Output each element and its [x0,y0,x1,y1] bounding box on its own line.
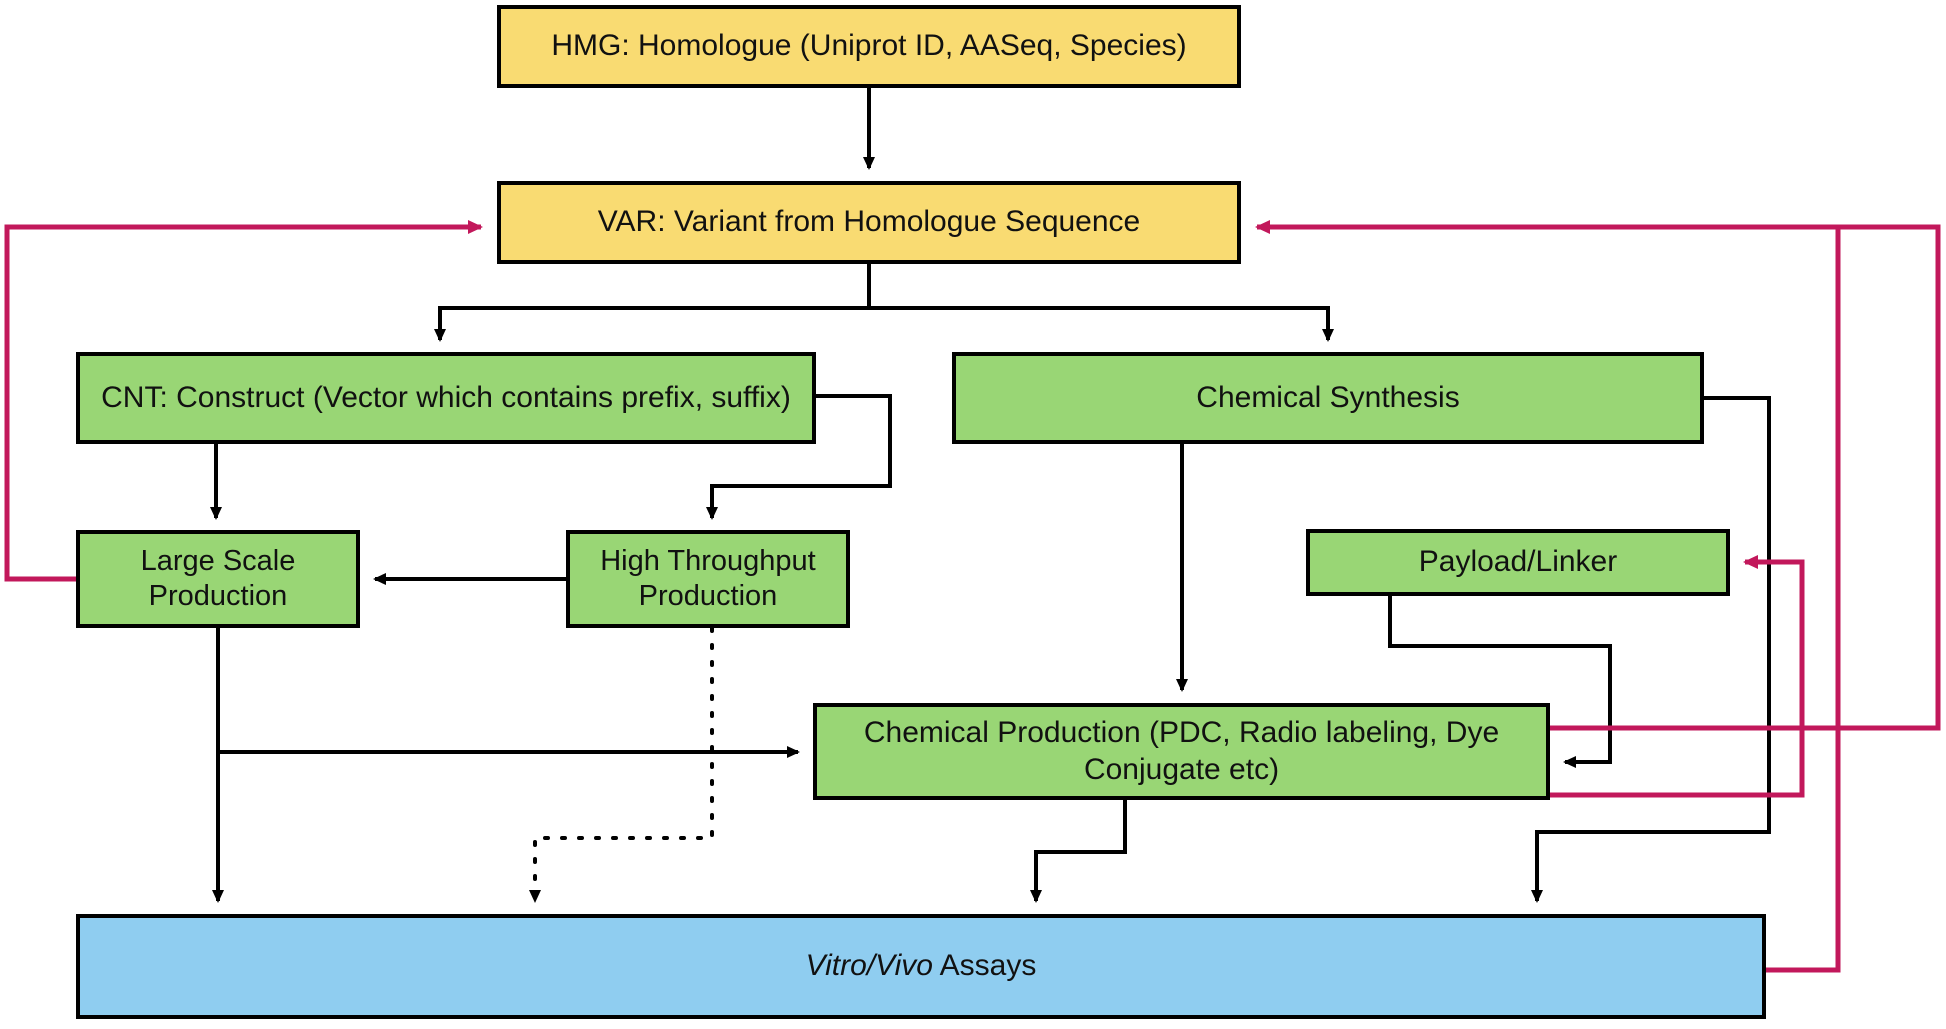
edge-var-split-left [440,264,869,340]
assays-label-italic: Vitro/Vivo [806,949,933,982]
node-chemical-production-label: Chemical Production (PDC, Radio labeling… [817,715,1546,788]
edge-chem-prod-to-payload-feedback [1550,562,1802,795]
node-var[interactable]: VAR: Variant from Homologue Sequence [497,181,1241,264]
edge-layer [0,0,1946,1029]
node-hmg[interactable]: HMG: Homologue (Uniprot ID, AASeq, Speci… [497,5,1241,88]
node-large-scale-production-label: Large Scale Production [80,544,356,615]
edge-var-split-right [869,308,1328,340]
node-high-throughput-production-label: High Throughput Production [570,544,846,615]
node-vitro-vivo-assays-label: Vitro/Vivo Assays [796,948,1047,985]
edge-chem-prod-to-var-feedback [1257,227,1938,728]
node-vitro-vivo-assays[interactable]: Vitro/Vivo Assays [76,914,1766,1019]
assays-label-rest: Assays [933,949,1036,982]
node-chemical-production[interactable]: Chemical Production (PDC, Radio labeling… [813,703,1550,800]
edge-assays-to-var-feedback [1766,227,1838,970]
node-high-throughput-production[interactable]: High Throughput Production [566,530,850,628]
node-chemical-synthesis[interactable]: Chemical Synthesis [952,352,1704,444]
edge-high-throughput-to-assays-dotted [535,628,712,901]
node-cnt[interactable]: CNT: Construct (Vector which contains pr… [76,352,816,444]
node-large-scale-production[interactable]: Large Scale Production [76,530,360,628]
node-var-label: VAR: Variant from Homologue Sequence [588,204,1151,241]
edge-chem-prod-to-assays [1036,800,1125,901]
node-payload-linker-label: Payload/Linker [1409,544,1627,581]
edge-chem-synth-to-assays [1537,398,1769,901]
node-payload-linker[interactable]: Payload/Linker [1306,529,1730,596]
node-cnt-label: CNT: Construct (Vector which contains pr… [91,380,801,417]
node-chemical-synthesis-label: Chemical Synthesis [1186,380,1469,417]
flowchart-canvas: HMG: Homologue (Uniprot ID, AASeq, Speci… [0,0,1946,1029]
node-hmg-label: HMG: Homologue (Uniprot ID, AASeq, Speci… [541,28,1196,65]
